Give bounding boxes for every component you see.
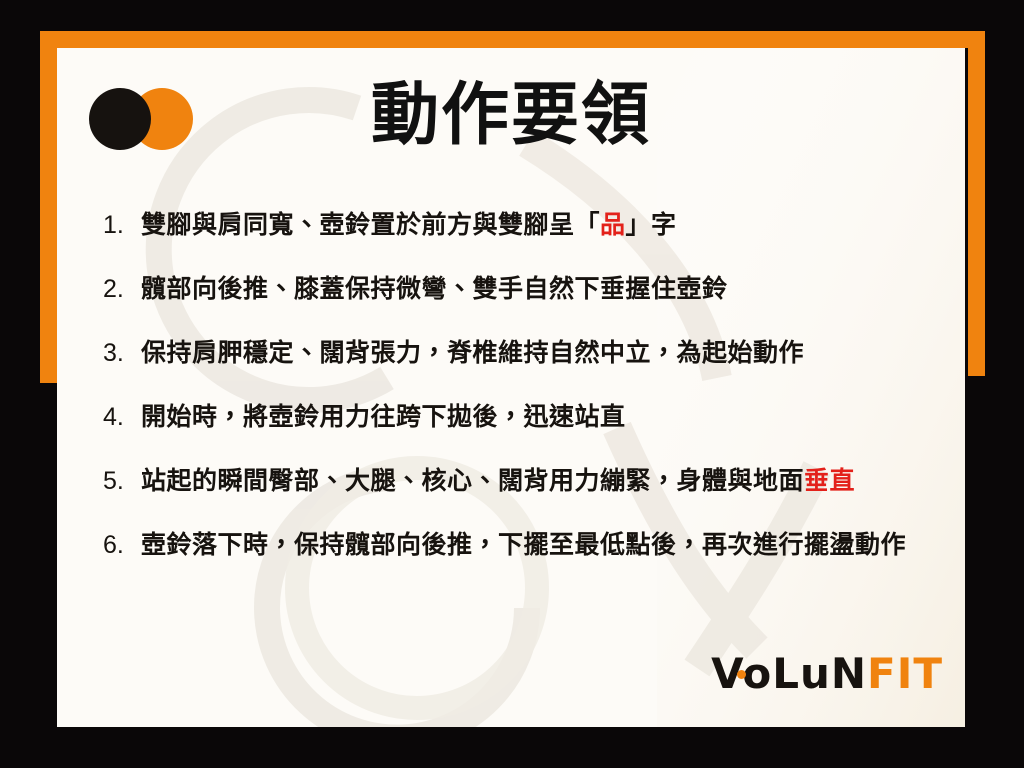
step-number: 1. bbox=[103, 206, 141, 244]
step-text: 髖部向後推、膝蓋保持微彎、雙手自然下垂握住壺鈴 bbox=[141, 270, 933, 308]
step-number: 6. bbox=[103, 526, 141, 564]
step-text-segment: 站起的瞬間臀部、大腿、核心、闊背用力繃緊，身體與地面 bbox=[141, 467, 804, 495]
step-text-segment: 」字 bbox=[626, 211, 677, 239]
brand-dots-logo bbox=[89, 88, 199, 150]
page-title: 動作要領 bbox=[57, 72, 965, 158]
step-text: 雙腳與肩同寬、壺鈴置於前方與雙腳呈「品」字 bbox=[141, 206, 933, 244]
list-item: 3.保持肩胛穩定、闊背張力，脊椎維持自然中立，為起始動作 bbox=[103, 334, 933, 372]
slide-card: 動作要領 1.雙腳與肩同寬、壺鈴置於前方與雙腳呈「品」字2.髖部向後推、膝蓋保持… bbox=[57, 48, 965, 727]
step-text: 壺鈴落下時，保持髖部向後推，下擺至最低點後，再次進行擺盪動作 bbox=[141, 526, 933, 564]
list-item: 4.開始時，將壺鈴用力往跨下拋後，迅速站直 bbox=[103, 398, 933, 436]
black-circle-icon bbox=[89, 88, 151, 150]
list-item: 2.髖部向後推、膝蓋保持微彎、雙手自然下垂握住壺鈴 bbox=[103, 270, 933, 308]
step-text: 站起的瞬間臀部、大腿、核心、闊背用力繃緊，身體與地面垂直 bbox=[141, 462, 933, 500]
list-item: 6.壺鈴落下時，保持髖部向後推，下擺至最低點後，再次進行擺盪動作 bbox=[103, 526, 933, 564]
orange-frame-top bbox=[40, 31, 985, 48]
orange-frame-right bbox=[968, 31, 985, 376]
step-text-segment: 保持肩胛穩定、闊背張力，脊椎維持自然中立，為起始動作 bbox=[141, 339, 804, 367]
step-number: 2. bbox=[103, 270, 141, 308]
wordmark-dark-text: VoLuN bbox=[711, 649, 867, 698]
step-number: 3. bbox=[103, 334, 141, 372]
step-text-segment: 雙腳與肩同寬、壺鈴置於前方與雙腳呈「 bbox=[141, 211, 600, 239]
orange-frame-left bbox=[40, 31, 57, 383]
step-text-highlight: 垂直 bbox=[804, 467, 855, 495]
volunfit-wordmark: VoLuN FIT bbox=[711, 653, 943, 695]
step-number: 5. bbox=[103, 462, 141, 500]
slide-header: 動作要領 bbox=[57, 48, 965, 198]
wordmark-orange-text: FIT bbox=[867, 653, 943, 695]
slide-stage: 動作要領 1.雙腳與肩同寬、壺鈴置於前方與雙腳呈「品」字2.髖部向後推、膝蓋保持… bbox=[0, 0, 1024, 768]
step-number: 4. bbox=[103, 398, 141, 436]
step-text-segment: 髖部向後推、膝蓋保持微彎、雙手自然下垂握住壺鈴 bbox=[141, 275, 728, 303]
list-item: 5.站起的瞬間臀部、大腿、核心、闊背用力繃緊，身體與地面垂直 bbox=[103, 462, 933, 500]
step-text: 保持肩胛穩定、闊背張力，脊椎維持自然中立，為起始動作 bbox=[141, 334, 933, 372]
step-text: 開始時，將壺鈴用力往跨下拋後，迅速站直 bbox=[141, 398, 933, 436]
step-text-segment: 壺鈴落下時，保持髖部向後推，下擺至最低點後，再次進行擺盪動作 bbox=[141, 531, 906, 559]
step-text-segment: 開始時，將壺鈴用力往跨下拋後，迅速站直 bbox=[141, 403, 626, 431]
wordmark-dark-part: VoLuN bbox=[711, 653, 867, 695]
list-item: 1.雙腳與肩同寬、壺鈴置於前方與雙腳呈「品」字 bbox=[103, 206, 933, 244]
step-text-highlight: 品 bbox=[600, 211, 626, 239]
steps-list: 1.雙腳與肩同寬、壺鈴置於前方與雙腳呈「品」字2.髖部向後推、膝蓋保持微彎、雙手… bbox=[103, 206, 933, 564]
